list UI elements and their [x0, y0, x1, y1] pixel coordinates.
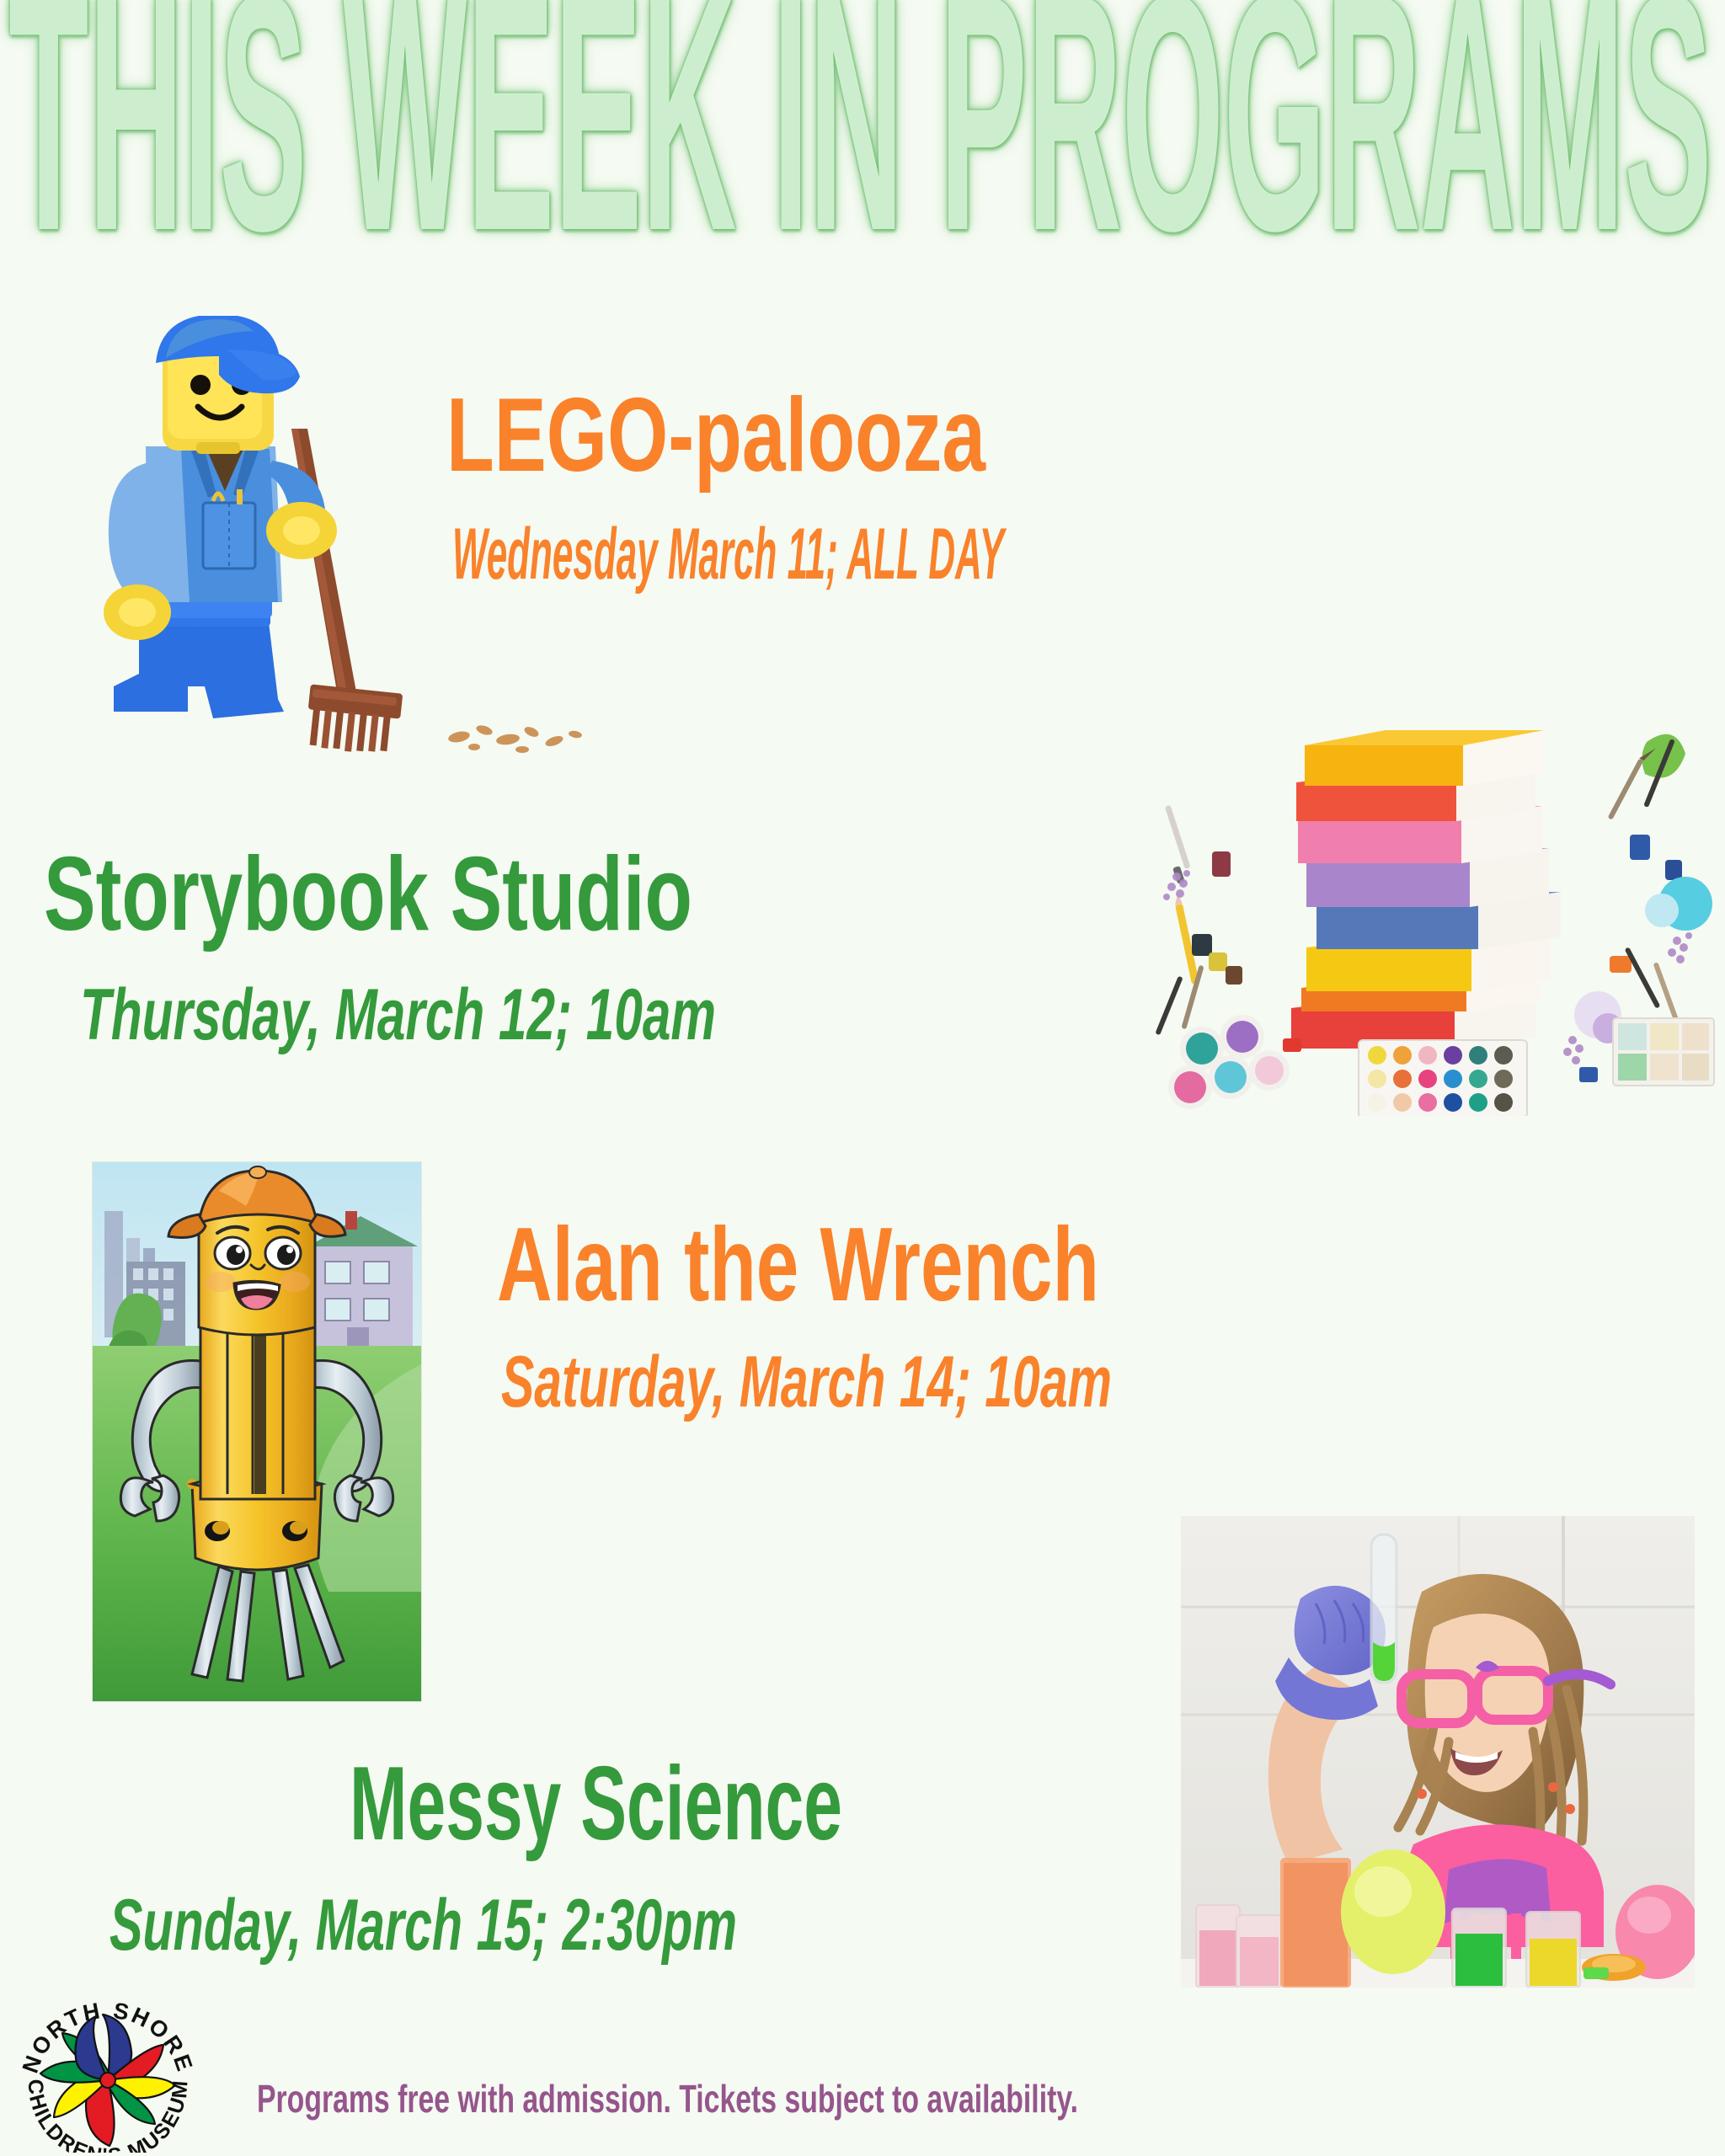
- event-date-alan-the-wrench: Saturday, March 14; 10am: [501, 1346, 1392, 1418]
- page-title-text: THIS WEEK IN PROGRAMS: [8, 0, 1712, 239]
- event-date-text: Wednesday March 11; ALL DAY: [452, 518, 1004, 590]
- logo-top-text: NORTH SHORE: [18, 2003, 199, 2076]
- event-title-text: Storybook Studio: [44, 842, 692, 947]
- event-title-text: Alan the Wrench: [497, 1213, 1099, 1317]
- footer-note: Programs free with admission. Tickets su…: [257, 2076, 1375, 2121]
- page-title: THIS WEEK IN PROGRAMS: [8, 0, 1718, 260]
- event-title-text: Messy Science: [350, 1752, 842, 1856]
- event-title-lego-palooza: LEGO-palooza: [446, 383, 1166, 488]
- svg-text:NORTH SHORE: NORTH SHORE: [18, 2003, 199, 2076]
- event-date-storybook-studio: Thursday, March 12; 10am: [80, 979, 987, 1051]
- books-and-art-supplies-image: [1141, 678, 1722, 1116]
- event-date-messy-science: Sunday, March 15; 2:30pm: [109, 1889, 1021, 1961]
- alan-the-wrench-image: [93, 1162, 421, 1701]
- event-date-text: Saturday, March 14; 10am: [501, 1346, 1112, 1418]
- event-date-text: Thursday, March 12; 10am: [80, 979, 716, 1051]
- footer-note-text: Programs free with admission. Tickets su…: [257, 2076, 1078, 2121]
- event-title-storybook-studio: Storybook Studio: [44, 842, 914, 947]
- event-title-messy-science: Messy Science: [350, 1752, 1092, 1856]
- event-date-lego-palooza: Wednesday March 11; ALL DAY: [452, 518, 1531, 590]
- messy-science-photo: [1181, 1516, 1695, 1988]
- poster-title-band: THIS WEEK IN PROGRAMS: [0, 0, 1725, 181]
- event-date-text: Sunday, March 15; 2:30pm: [109, 1889, 737, 1961]
- poster-canvas: THIS WEEK IN PROGRAMS: [0, 0, 1725, 2156]
- event-title-text: LEGO-palooza: [446, 383, 985, 488]
- event-title-alan-the-wrench: Alan the Wrench: [497, 1213, 1319, 1317]
- north-shore-childrens-museum-logo: NORTH SHORE CHILDREN'S MUSEUM: [15, 2003, 213, 2153]
